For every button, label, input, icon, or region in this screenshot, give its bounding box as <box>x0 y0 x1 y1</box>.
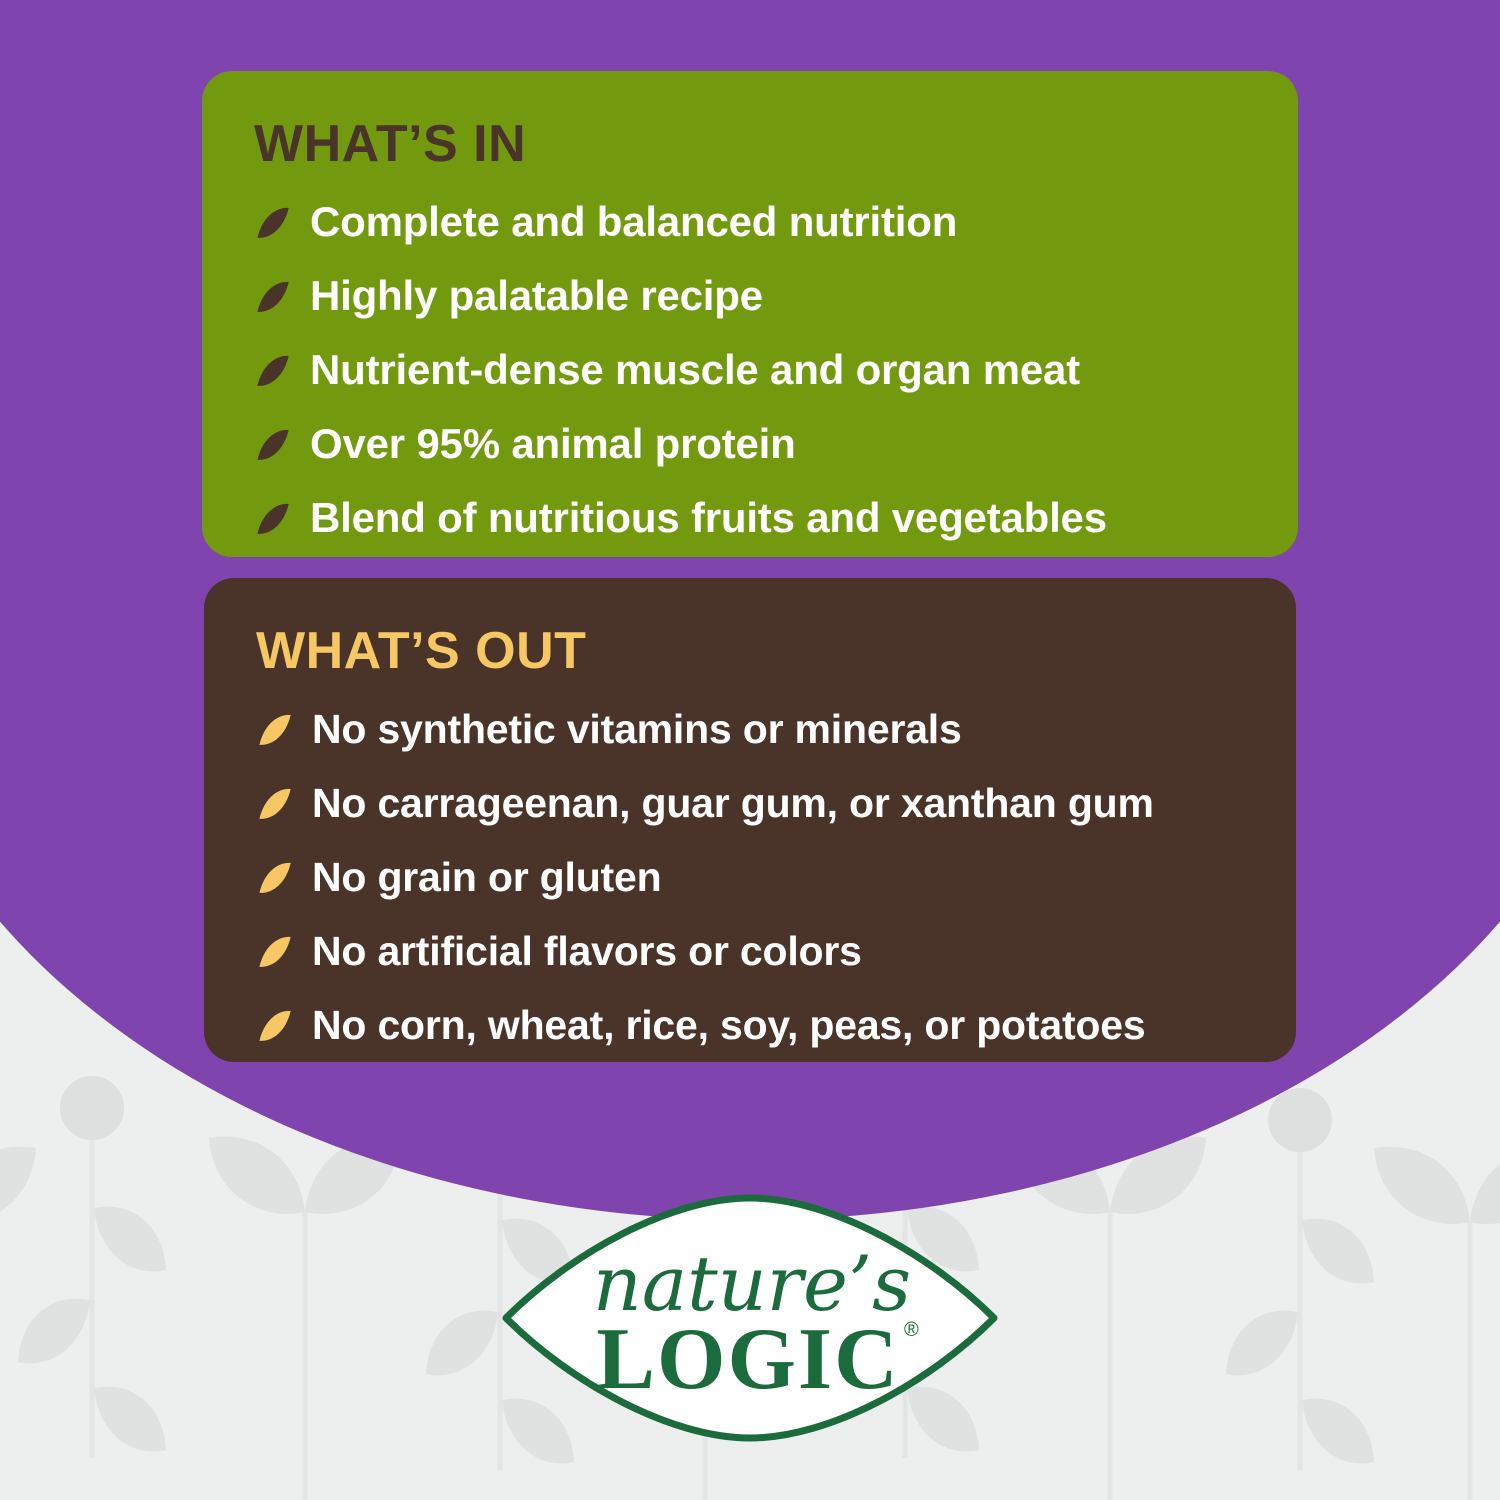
list-item: Over 95% animal protein <box>254 408 1250 482</box>
list-item-label: No synthetic vitamins or minerals <box>312 708 962 751</box>
list-item-label: Blend of nutritious fruits and vegetable… <box>310 496 1107 541</box>
leaf-icon <box>254 500 292 538</box>
list-item: No corn, wheat, rice, soy, peas, or pota… <box>256 989 1248 1063</box>
registered-trademark-icon: ® <box>904 1319 919 1341</box>
list-item-label: Complete and balanced nutrition <box>310 200 957 245</box>
leaf-icon <box>256 785 294 823</box>
leaf-icon <box>256 1007 294 1045</box>
list-item: No synthetic vitamins or minerals <box>256 693 1248 767</box>
whats-out-panel: WHAT’S OUT No synthetic vitamins or mine… <box>204 578 1296 1062</box>
whats-out-heading: WHAT’S OUT <box>256 624 1248 679</box>
leaf-icon <box>254 352 292 390</box>
list-item-label: Over 95% animal protein <box>310 422 796 467</box>
list-item-label: Nutrient-dense muscle and organ meat <box>310 348 1080 393</box>
leaf-icon <box>254 204 292 242</box>
logo-main-word: LOGIC <box>596 1311 899 1408</box>
list-item: Complete and balanced nutrition <box>254 186 1250 260</box>
leaf-icon <box>254 278 292 316</box>
list-item-label: No corn, wheat, rice, soy, peas, or pota… <box>312 1004 1145 1047</box>
brand-logo: nature’s LOGIC ® <box>500 1192 1000 1444</box>
leaf-icon <box>256 933 294 971</box>
leaf-icon <box>256 859 294 897</box>
list-item: No carrageenan, guar gum, or xanthan gum <box>256 767 1248 841</box>
list-item: Nutrient-dense muscle and organ meat <box>254 334 1250 408</box>
poster-canvas: WHAT’S IN Complete and balanced nutritio… <box>0 0 1500 1500</box>
leaf-icon <box>254 426 292 464</box>
list-item-label: No artificial flavors or colors <box>312 930 862 973</box>
leaf-icon <box>256 711 294 749</box>
whats-out-list: No synthetic vitamins or minerals No car… <box>256 693 1248 1063</box>
list-item: Blend of nutritious fruits and vegetable… <box>254 482 1250 556</box>
whats-in-list: Complete and balanced nutrition Highly p… <box>254 186 1250 556</box>
list-item-label: No grain or gluten <box>312 856 661 899</box>
list-item-label: Highly palatable recipe <box>310 274 763 319</box>
list-item-label: No carrageenan, guar gum, or xanthan gum <box>312 782 1154 825</box>
list-item: No grain or gluten <box>256 841 1248 915</box>
list-item: Highly palatable recipe <box>254 260 1250 334</box>
whats-in-panel: WHAT’S IN Complete and balanced nutritio… <box>202 71 1298 557</box>
whats-in-heading: WHAT’S IN <box>254 117 1250 172</box>
list-item: No artificial flavors or colors <box>256 915 1248 989</box>
